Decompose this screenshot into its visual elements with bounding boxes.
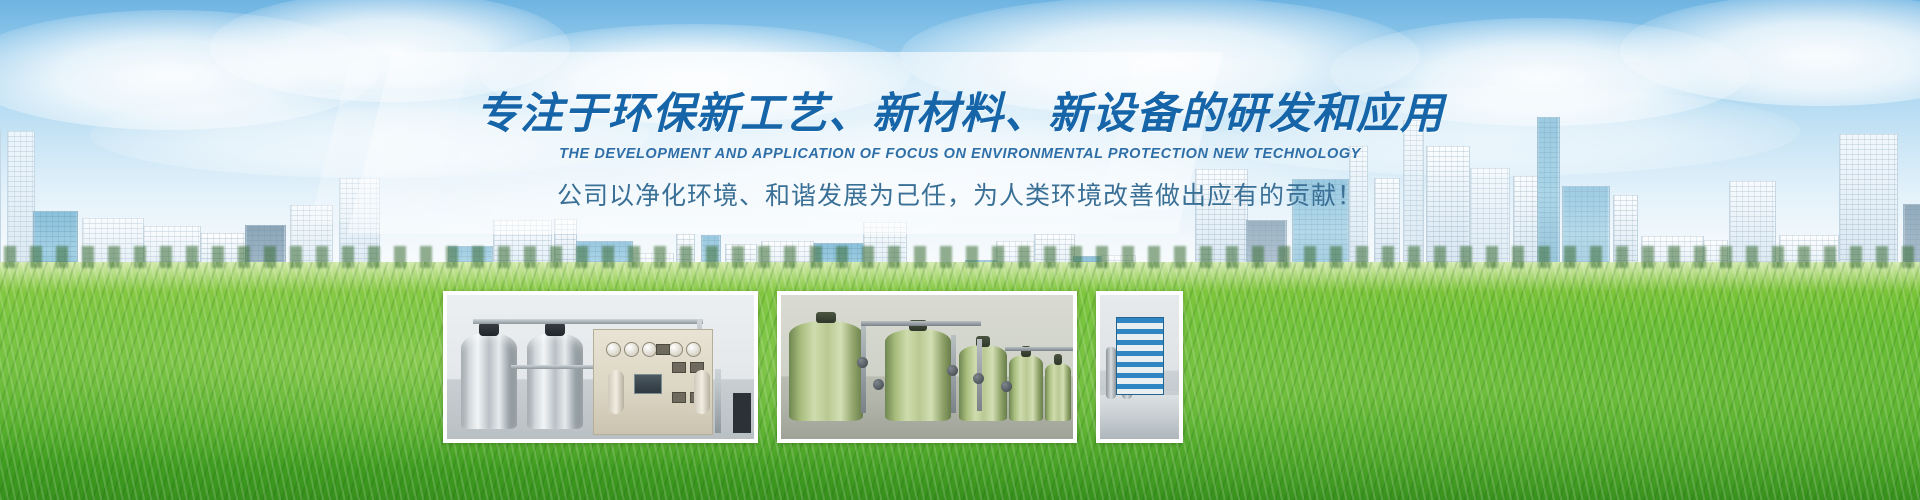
switch-button <box>672 392 686 403</box>
gauge-icon <box>606 342 621 357</box>
photo-reverse-osmosis-plant-interior[interactable] <box>1096 291 1183 443</box>
valve <box>947 365 958 376</box>
banner-headline: 专注于环保新工艺、新材料、新设备的研发和应用 <box>0 92 1920 137</box>
frp-tank <box>1045 363 1071 421</box>
pump-unit <box>733 393 751 433</box>
banner-subtitle-chinese: 公司以净化环境、和谐发展为己任，为人类环境改善做出应有的贡献！ <box>0 176 1920 212</box>
valve <box>873 379 884 390</box>
valve <box>973 373 984 384</box>
filter-column <box>1106 347 1116 399</box>
gauge-icon <box>624 342 639 357</box>
valve <box>1001 381 1012 392</box>
control-cabinet <box>593 329 713 435</box>
banner-copy: 专注于环保新工艺、新材料、新设备的研发和应用 THE DEVELOPMENT A… <box>0 92 1920 212</box>
membrane-housing <box>608 370 624 414</box>
pipe <box>861 321 981 326</box>
banner-subtitle-english: THE DEVELOPMENT AND APPLICATION OF FOCUS… <box>0 146 1920 162</box>
gauge-icon <box>668 342 683 357</box>
photo-green-frp-filter-tank-row[interactable] <box>777 291 1077 443</box>
gauge-icon <box>686 342 701 357</box>
frp-tank <box>789 321 863 421</box>
valve <box>857 357 868 368</box>
stainless-tank <box>461 333 517 429</box>
product-photo-strip <box>443 291 1183 443</box>
photo-image <box>447 295 754 439</box>
frp-tank <box>1009 355 1043 421</box>
gauge-icon <box>642 342 657 357</box>
switch-button <box>656 344 670 355</box>
ro-membrane-rack <box>1116 317 1164 395</box>
frp-tank <box>885 329 951 421</box>
hero-banner: 专注于环保新工艺、新材料、新设备的研发和应用 THE DEVELOPMENT A… <box>0 0 1920 500</box>
pipe <box>511 365 601 369</box>
pipe <box>715 369 721 433</box>
photo-image <box>1100 295 1179 439</box>
membrane-housing <box>694 370 710 414</box>
frp-tank <box>959 345 1007 421</box>
photo-stainless-steel-water-treatment-system[interactable] <box>443 291 758 443</box>
floor-reflection <box>1100 395 1179 439</box>
photo-image <box>781 295 1073 439</box>
pipe <box>1005 347 1073 351</box>
switch-button <box>672 362 686 373</box>
stainless-tank <box>527 333 583 429</box>
pipe <box>473 319 703 324</box>
tree-line <box>0 246 1920 268</box>
display-panel <box>634 374 662 394</box>
